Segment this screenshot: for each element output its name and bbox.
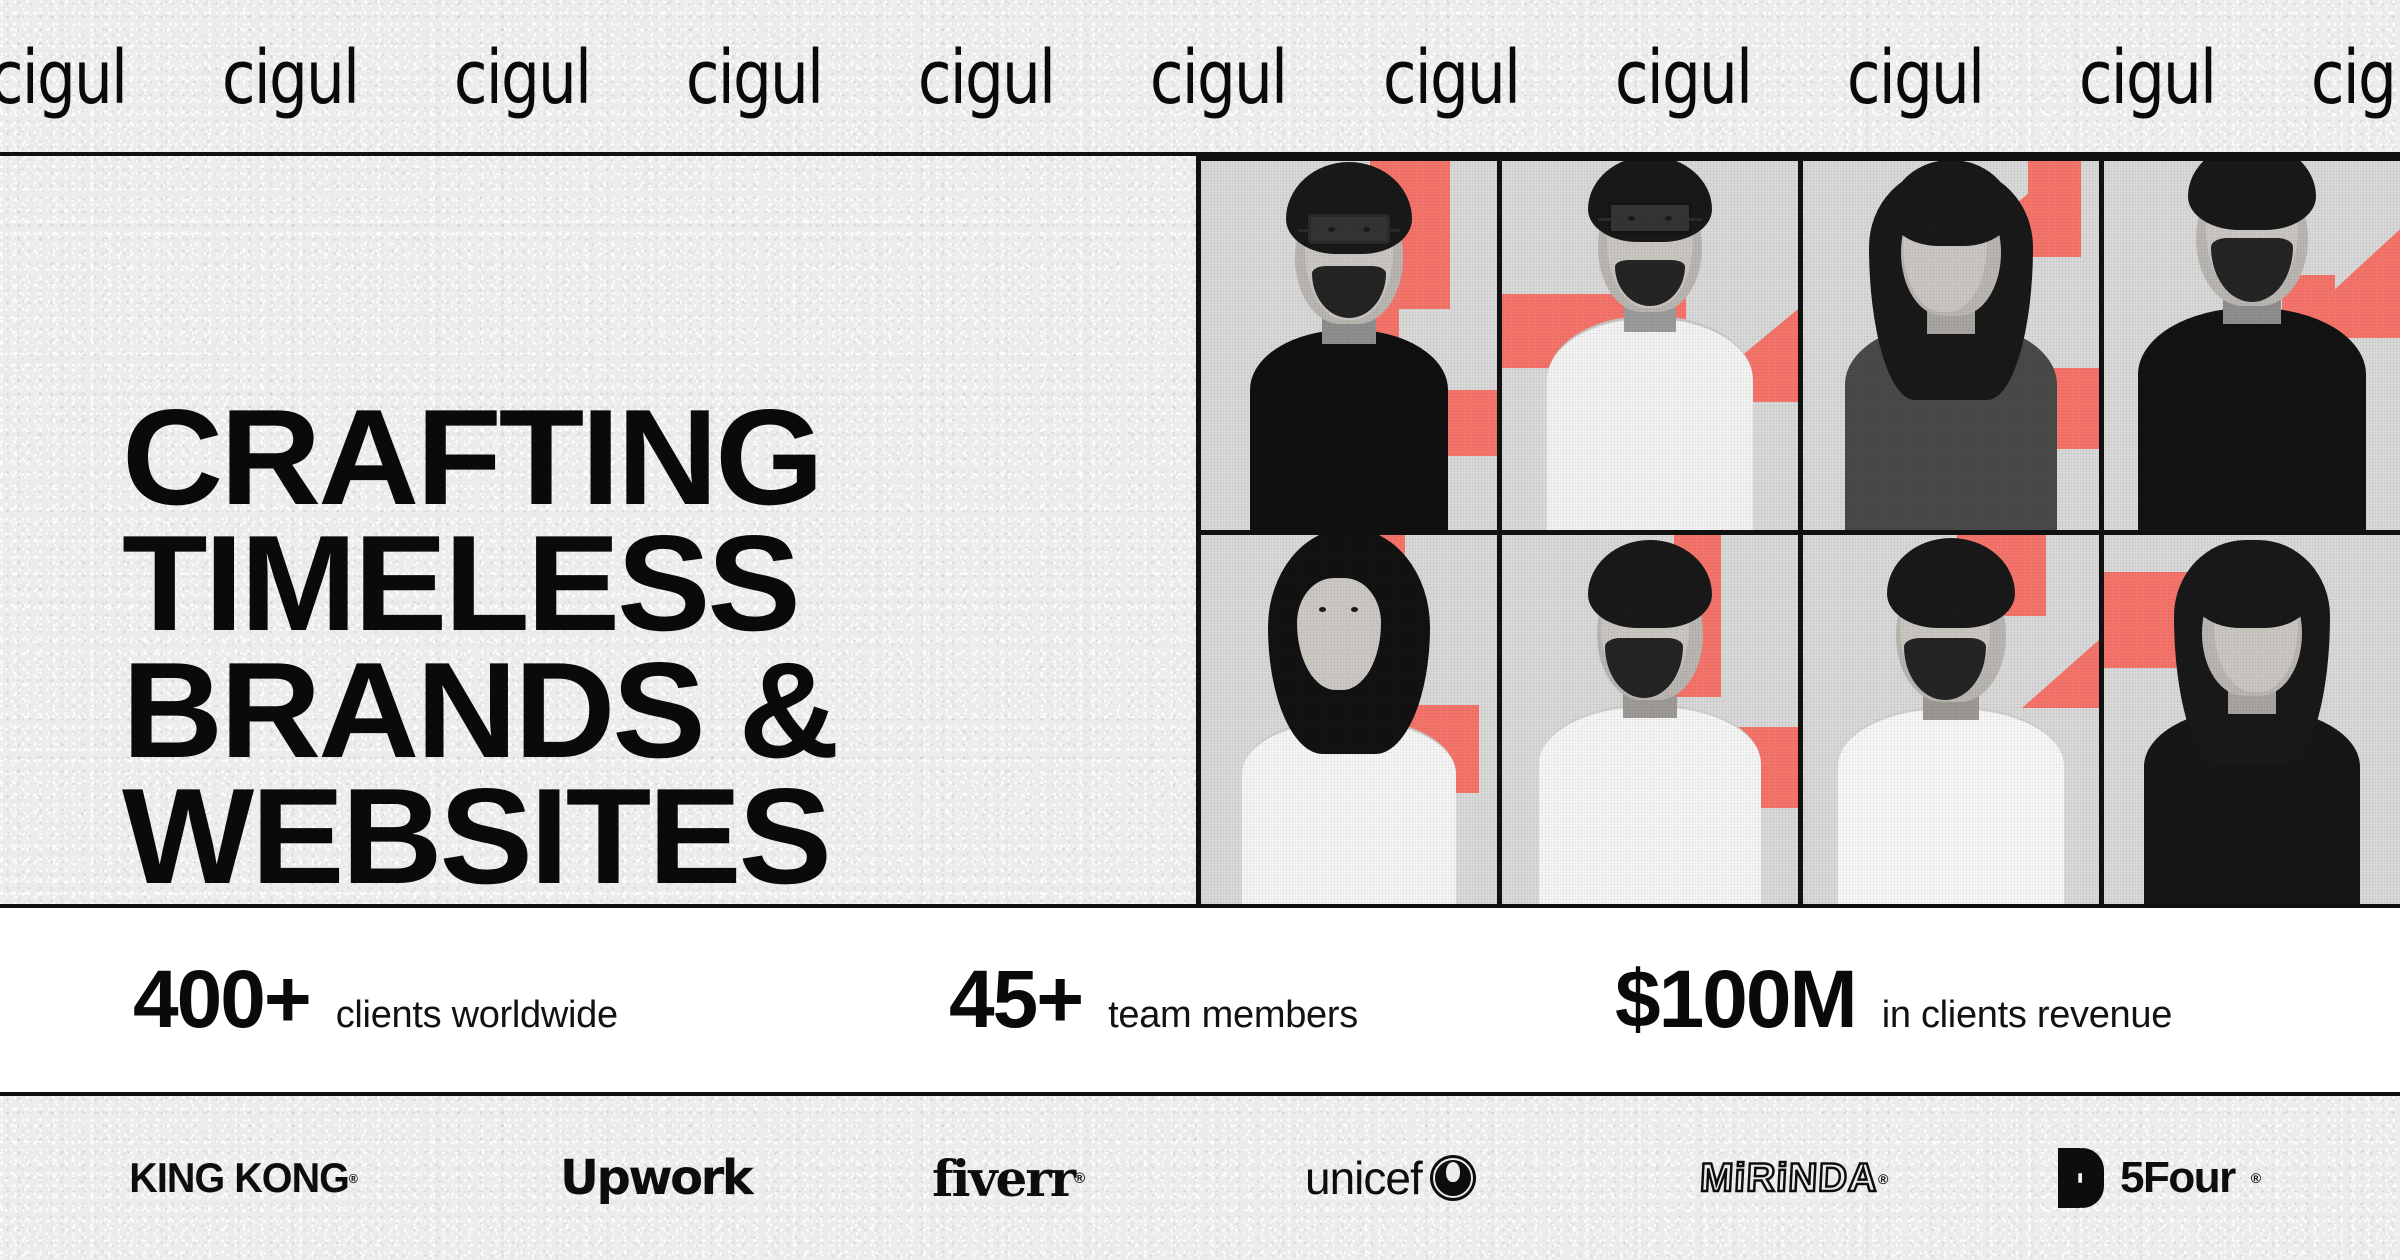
stat-number: 45+ bbox=[949, 959, 1082, 1041]
portrait-figure bbox=[1201, 161, 1497, 530]
stat-team-members: 45+ team members bbox=[949, 959, 1358, 1041]
brand-marquee: cigulcigulcigulcigulcigulcigulcigulcigul… bbox=[0, 0, 2400, 155]
headline-line-1: CRAFTING bbox=[122, 394, 1162, 520]
stat-label: team members bbox=[1108, 996, 1358, 1034]
team-member-photo-4[interactable] bbox=[2104, 161, 2400, 530]
headline-line-2: TIMELESS bbox=[122, 520, 1162, 646]
portrait-figure bbox=[1803, 161, 2099, 530]
marquee-brand-word: cigul bbox=[183, 41, 397, 115]
registered-mark-icon: ® bbox=[2251, 1170, 2260, 1186]
stats-bar: 400+ clients worldwide 45+ team members … bbox=[0, 908, 2400, 1092]
hero-block: CRAFTING TIMELESS BRANDS & WEBSITES bbox=[0, 156, 2400, 904]
team-member-photo-8[interactable] bbox=[2104, 535, 2400, 904]
client-logo-upwork[interactable]: Upwork bbox=[560, 1150, 751, 1206]
portrait-figure bbox=[1201, 535, 1497, 904]
team-member-photo-3[interactable] bbox=[1803, 161, 2099, 530]
client-logo-label: 5Four bbox=[2120, 1153, 2235, 1203]
client-logo-mirinda[interactable]: MiRiNDA® bbox=[1699, 1156, 1891, 1201]
team-member-photo-2[interactable] bbox=[1502, 161, 1798, 530]
portrait-figure bbox=[1803, 535, 2099, 904]
marquee-brand-word: cigul bbox=[0, 41, 165, 115]
client-logo-label: KING KONG bbox=[129, 1154, 349, 1202]
portrait-figure bbox=[2104, 535, 2400, 904]
client-logo-label: unicef bbox=[1305, 1151, 1422, 1205]
unicef-globe-icon bbox=[1430, 1155, 1476, 1201]
marquee-brand-word: cigul bbox=[415, 41, 629, 115]
stat-number: 400+ bbox=[133, 959, 310, 1041]
client-logo-bar: KING KONG® Upwork fiverr® unicef MiRiNDA… bbox=[0, 1096, 2400, 1260]
marquee-brand-word: cigul bbox=[2272, 41, 2400, 115]
stat-revenue: $100M in clients revenue bbox=[1615, 959, 2172, 1041]
team-photo-grid bbox=[1196, 156, 2400, 904]
client-logo-label: fiverr bbox=[932, 1149, 1074, 1208]
stat-label: in clients revenue bbox=[1882, 996, 2172, 1034]
stat-clients: 400+ clients worldwide bbox=[133, 959, 618, 1041]
client-logo-fiverr[interactable]: fiverr® bbox=[932, 1149, 1083, 1208]
marquee-track: cigulcigulcigulcigulcigulcigulcigulcigul… bbox=[0, 41, 2400, 115]
portrait-figure bbox=[2104, 161, 2400, 530]
team-member-photo-7[interactable] bbox=[1803, 535, 2099, 904]
portrait-figure bbox=[1502, 535, 1798, 904]
client-logo-label: Upwork bbox=[560, 1150, 751, 1206]
team-member-photo-6[interactable] bbox=[1502, 535, 1798, 904]
client-logo-king-kong[interactable]: KING KONG® bbox=[129, 1154, 357, 1202]
marquee-brand-word: cigul bbox=[880, 41, 1094, 115]
marquee-brand-word: cigul bbox=[1344, 41, 1558, 115]
portrait-figure bbox=[1502, 161, 1798, 530]
registered-mark-icon: ® bbox=[1074, 1170, 1083, 1187]
registered-mark-icon: ® bbox=[1878, 1170, 1890, 1186]
headline-line-4: WEBSITES bbox=[122, 773, 1162, 899]
five-mark-icon bbox=[2058, 1148, 2104, 1208]
marquee-brand-word: cigul bbox=[648, 41, 862, 115]
headline-line-3: BRANDS & bbox=[122, 647, 1162, 773]
team-member-photo-5[interactable] bbox=[1201, 535, 1497, 904]
marquee-brand-word: cigul bbox=[1112, 41, 1326, 115]
landing-page-hero-section: cigulcigulcigulcigulcigulcigulcigulcigul… bbox=[0, 0, 2400, 1260]
client-logo-unicef[interactable]: unicef bbox=[1305, 1151, 1476, 1205]
client-logo-5four[interactable]: 5Four® bbox=[2058, 1148, 2260, 1208]
stat-number: $100M bbox=[1615, 959, 1856, 1041]
marquee-brand-word: cigul bbox=[1808, 41, 2022, 115]
stat-label: clients worldwide bbox=[336, 996, 618, 1034]
page-title: CRAFTING TIMELESS BRANDS & WEBSITES bbox=[122, 394, 1162, 900]
marquee-brand-word: cigul bbox=[1576, 41, 1790, 115]
team-member-photo-1[interactable] bbox=[1201, 161, 1497, 530]
marquee-brand-word: cigul bbox=[2040, 41, 2254, 115]
registered-mark-icon: ® bbox=[349, 1171, 357, 1186]
client-logo-label: MiRiNDA bbox=[1699, 1156, 1879, 1201]
